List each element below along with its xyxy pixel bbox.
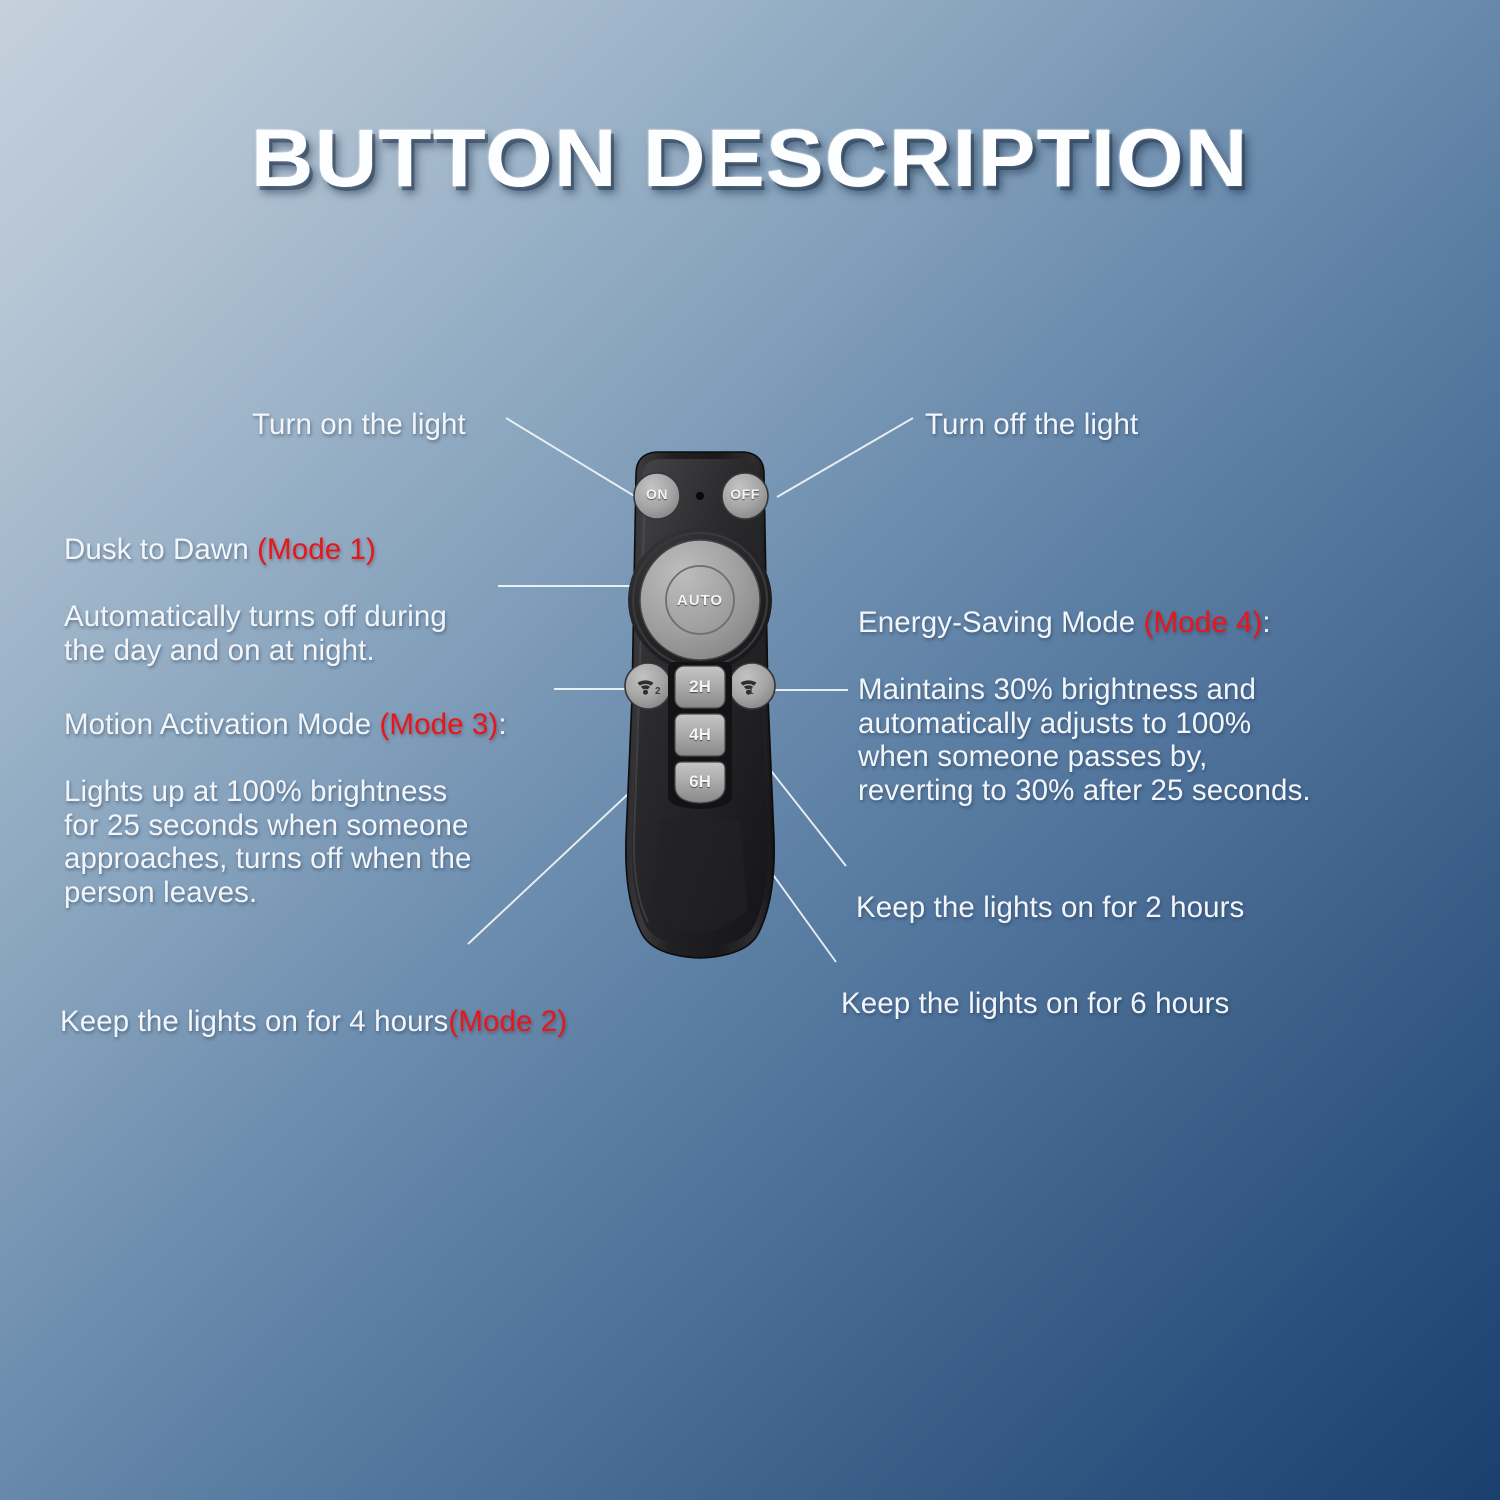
callout-dusk-to-dawn-body: Automatically turns off during the day a…: [64, 600, 447, 666]
callout-dusk-to-dawn-heading: Dusk to Dawn: [64, 533, 257, 566]
remote-bottom-sheen: [652, 817, 748, 933]
callout-hours-4: Keep the lights on for 4 hours(Mode 2): [60, 972, 567, 1039]
callout-energy-saving-mode: (Mode 4): [1144, 606, 1263, 639]
callout-motion-activation-heading: Motion Activation Mode: [64, 708, 380, 741]
page-title: BUTTON DESCRIPTION: [251, 118, 1249, 200]
callout-turn-off-text: Turn off the light: [925, 408, 1138, 441]
callout-hours-4-text: Keep the lights on for 4 hours: [60, 1005, 448, 1038]
2h-button: [675, 666, 725, 708]
page-title-container: BUTTON DESCRIPTION: [0, 118, 1500, 200]
callout-hours-2-text: Keep the lights on for 2 hours: [856, 891, 1244, 924]
callout-hours-2: Keep the lights on for 2 hours: [856, 858, 1244, 925]
callout-motion-activation: Motion Activation Mode (Mode 3): Lights …: [64, 675, 507, 909]
callout-dusk-to-dawn-mode: (Mode 1): [257, 533, 376, 566]
infographic-canvas: BUTTON DESCRIPTION Turn on the light Tur…: [0, 0, 1500, 1500]
callout-turn-on-text: Turn on the light: [252, 408, 466, 441]
auto-dial-disc: [640, 540, 760, 660]
callout-hours-4-mode: (Mode 2): [448, 1005, 567, 1038]
callout-energy-saving-heading: Energy-Saving Mode: [858, 606, 1144, 639]
6h-button: [675, 762, 725, 803]
callout-motion-activation-suffix: :: [498, 708, 506, 741]
callout-hours-6: Keep the lights on for 6 hours: [841, 954, 1229, 1021]
callout-energy-saving-suffix: :: [1262, 606, 1270, 639]
callout-energy-saving-body: Maintains 30% brightness and automatical…: [858, 673, 1311, 806]
remote-body-graphic: [598, 448, 802, 968]
led-indicator-dot: [696, 492, 704, 500]
callout-motion-activation-body: Lights up at 100% brightness for 25 seco…: [64, 775, 472, 908]
callout-motion-activation-mode: (Mode 3): [380, 708, 499, 741]
callout-dusk-to-dawn: Dusk to Dawn (Mode 1) Automatically turn…: [64, 500, 447, 667]
on-button: [634, 473, 680, 519]
off-button: [722, 473, 768, 519]
wifi-1-button: [729, 663, 775, 709]
callout-turn-on: Turn on the light: [252, 375, 466, 442]
remote-control-device: ON OFF AUTO 2H 4H 6H 2 1: [598, 448, 802, 968]
callout-energy-saving: Energy-Saving Mode (Mode 4): Maintains 3…: [858, 573, 1311, 807]
callout-turn-off: Turn off the light: [925, 375, 1138, 442]
4h-button: [675, 714, 725, 756]
callout-hours-6-text: Keep the lights on for 6 hours: [841, 987, 1229, 1020]
